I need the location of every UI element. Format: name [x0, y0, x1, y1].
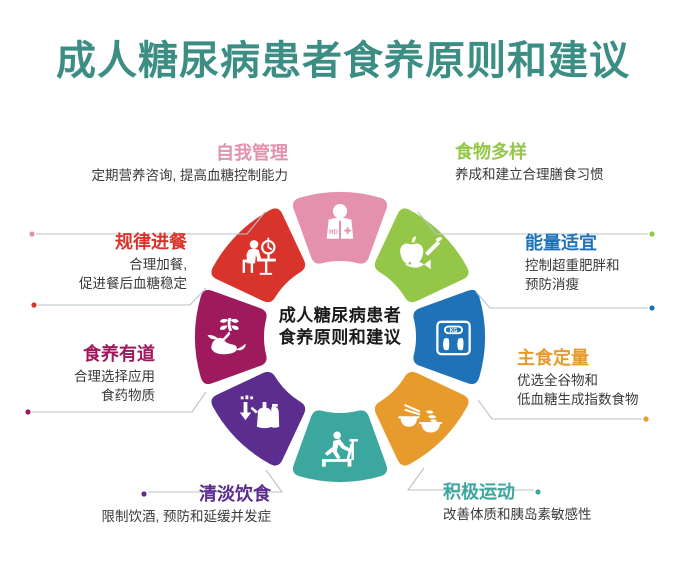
- center-label-line1: 成人糖尿病患者: [248, 305, 432, 327]
- callout-heading: 食养有道: [8, 344, 155, 365]
- callout-body-line: 合理加餐,: [12, 255, 187, 275]
- callout-food-variety[interactable]: 食物多样 养成和建立合理膳食习惯: [455, 142, 680, 184]
- callout-light-diet[interactable]: 清淡饮食 限制饮酒, 预防和延缓并发症: [6, 484, 271, 526]
- callout-body: 合理加餐, 促进餐后血糖稳定: [12, 255, 187, 294]
- callout-body-line: 预防消瘦: [525, 275, 685, 295]
- svg-text:KG: KG: [450, 328, 458, 334]
- connector-dot-staple-portion: [643, 416, 648, 421]
- callout-heading: 自我管理: [12, 143, 288, 164]
- callout-self-management[interactable]: 自我管理 定期营养咨询, 提高血糖控制能力: [12, 143, 288, 185]
- center-label: 成人糖尿病患者 食养原则和建议: [248, 305, 432, 349]
- callout-body: 优选全谷物和 低血糖生成指数食物: [517, 371, 685, 410]
- page-title: 成人糖尿病患者食养原则和建议: [0, 28, 686, 86]
- callout-body: 控制超重肥胖和 预防消瘦: [525, 256, 685, 295]
- connector-dot-medicinal-food: [25, 409, 30, 414]
- connector-dot-energy-appropriate: [649, 305, 654, 310]
- callout-heading: 规律进餐: [12, 232, 187, 253]
- connector-dot-regular-meals: [31, 302, 36, 307]
- callout-body: 改善体质和胰岛素敏感性: [443, 505, 683, 525]
- callout-staple-portion[interactable]: 主食定量 优选全谷物和 低血糖生成指数食物: [517, 348, 685, 410]
- callout-body: 合理选择应用 食药物质: [8, 367, 155, 406]
- callout-active-exercise[interactable]: 积极运动 改善体质和胰岛素敏感性: [443, 482, 683, 524]
- callout-body-line: 定期营养咨询, 提高血糖控制能力: [12, 166, 288, 186]
- callout-body-line: 低血糖生成指数食物: [517, 390, 685, 410]
- callout-heading: 积极运动: [443, 482, 683, 503]
- callout-body-line: 合理选择应用: [8, 367, 155, 387]
- wheel-segment-staple-portion[interactable]: [375, 372, 469, 466]
- callout-body-line: 食药物质: [8, 386, 155, 406]
- center-label-line2: 食养原则和建议: [248, 327, 432, 349]
- callout-heading: 清淡饮食: [6, 484, 271, 505]
- callout-body-line: 限制饮酒, 预防和延缓并发症: [6, 507, 271, 527]
- callout-heading: 主食定量: [517, 348, 685, 369]
- callout-body: 养成和建立合理膳食习惯: [455, 165, 680, 185]
- callout-body-line: 改善体质和胰岛素敏感性: [443, 505, 683, 525]
- callout-body-line: 促进餐后血糖稳定: [12, 274, 187, 294]
- callout-heading: 能量适宜: [525, 233, 685, 254]
- callout-body-line: 优选全谷物和: [517, 371, 685, 391]
- callout-regular-meals[interactable]: 规律进餐 合理加餐, 促进餐后血糖稳定: [12, 232, 187, 294]
- callout-body-line: 控制超重肥胖和: [525, 256, 685, 276]
- svg-text:RD: RD: [329, 229, 338, 236]
- callout-heading: 食物多样: [455, 142, 680, 163]
- callout-medicinal-food[interactable]: 食养有道 合理选择应用 食药物质: [8, 344, 155, 406]
- callout-body: 限制饮酒, 预防和延缓并发症: [6, 507, 271, 527]
- callout-energy-appropriate[interactable]: 能量适宜 控制超重肥胖和 预防消瘦: [525, 233, 685, 295]
- callout-body-line: 养成和建立合理膳食习惯: [455, 165, 680, 185]
- callout-body: 定期营养咨询, 提高血糖控制能力: [12, 166, 288, 186]
